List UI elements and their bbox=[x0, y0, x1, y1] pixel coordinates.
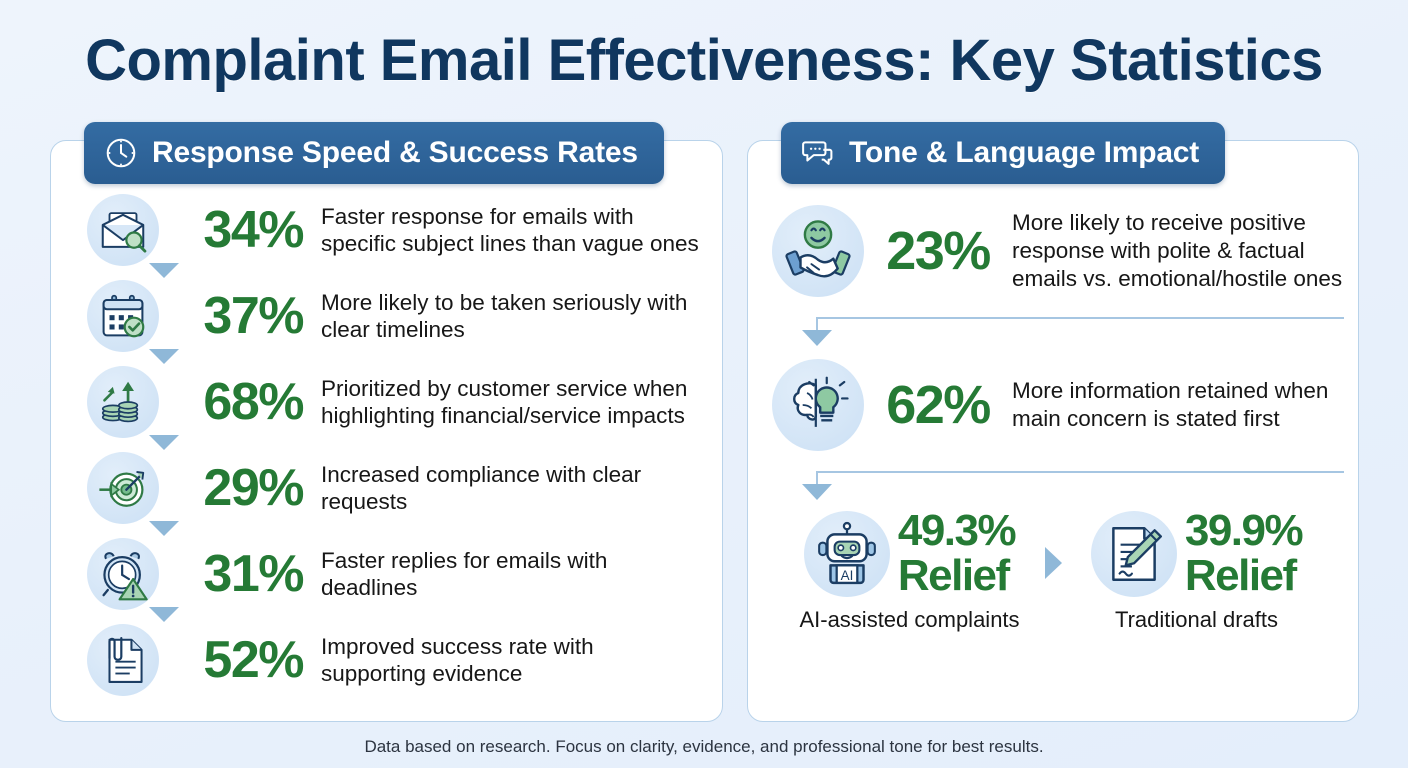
panel-left-body: 34% Faster response for emails with spec… bbox=[51, 141, 722, 693]
stat-percent: 23% bbox=[864, 224, 1012, 278]
page-title: Complaint Email Effectiveness: Key Stati… bbox=[0, 0, 1408, 90]
stat-description: More likely to receive positive response… bbox=[1012, 209, 1344, 292]
triangle-down-icon bbox=[149, 349, 179, 364]
flow-arrow-down bbox=[51, 435, 722, 455]
stat-percent: 68% bbox=[167, 376, 303, 428]
speech-bubbles-icon bbox=[801, 136, 835, 170]
stat-description: Increased compliance with clear requests bbox=[321, 461, 704, 516]
comparison-value: 49.3% bbox=[898, 506, 1015, 555]
panels-container: Response Speed & Success Rates bbox=[0, 140, 1408, 724]
stat-row: 62% More information retained when main … bbox=[748, 351, 1358, 459]
stat-row: 68% Prioritized by customer service when… bbox=[51, 369, 722, 435]
panel-tone-language: Tone & Language Impact bbox=[747, 140, 1359, 722]
flow-arrow-down bbox=[51, 521, 722, 541]
stat-row: 52% Improved success rate with supportin… bbox=[51, 627, 722, 693]
panel-right-title: Tone & Language Impact bbox=[849, 136, 1199, 170]
svg-text:AI: AI bbox=[841, 568, 854, 583]
comparison-unit: Relief bbox=[1185, 551, 1296, 600]
comparison-value: 39.9% bbox=[1185, 506, 1302, 555]
email-search-icon bbox=[87, 194, 159, 266]
panel-response-speed: Response Speed & Success Rates bbox=[50, 140, 723, 722]
clock-icon bbox=[104, 136, 138, 170]
stat-percent: 29% bbox=[167, 462, 303, 514]
stat-row: 37% More likely to be taken seriously wi… bbox=[51, 283, 722, 349]
comparison-item-ai: AI 49.3% Relief AI-assisted complaints bbox=[785, 509, 1035, 633]
panel-right-body: 23% More likely to receive positive resp… bbox=[748, 141, 1358, 633]
comparison-label: Traditional drafts bbox=[1072, 607, 1322, 633]
flow-arrow-down bbox=[51, 263, 722, 283]
stat-description: More likely to be taken seriously with c… bbox=[321, 289, 704, 344]
connector-line bbox=[816, 317, 1344, 319]
stat-description: Faster replies for emails with deadlines bbox=[321, 547, 704, 602]
stat-row: 34% Faster response for emails with spec… bbox=[51, 197, 722, 263]
calendar-check-icon bbox=[87, 280, 159, 352]
stat-description: More information retained when main conc… bbox=[1012, 377, 1344, 432]
stat-description: Improved success rate with supporting ev… bbox=[321, 633, 704, 688]
panel-left-header: Response Speed & Success Rates bbox=[84, 122, 664, 184]
stat-description: Faster response for emails with specific… bbox=[321, 203, 704, 258]
triangle-down-icon bbox=[802, 484, 832, 500]
stat-percent: 62% bbox=[864, 378, 1012, 432]
flow-connector bbox=[798, 459, 1344, 505]
triangle-right-icon bbox=[1045, 547, 1062, 579]
comparison-figure: 39.9% Relief bbox=[1185, 509, 1302, 599]
document-paperclip-icon bbox=[87, 624, 159, 696]
triangle-down-icon bbox=[149, 607, 179, 622]
triangle-down-icon bbox=[802, 330, 832, 346]
stat-percent: 52% bbox=[167, 634, 303, 686]
triangle-down-icon bbox=[149, 263, 179, 278]
triangle-down-icon bbox=[149, 521, 179, 536]
connector-line bbox=[816, 471, 1344, 473]
stat-percent: 31% bbox=[167, 548, 303, 600]
comparison-section: AI 49.3% Relief AI-assisted complaints bbox=[748, 505, 1358, 633]
connector-drop bbox=[816, 317, 818, 331]
flow-connector bbox=[798, 305, 1344, 351]
stat-row: 23% More likely to receive positive resp… bbox=[748, 197, 1358, 305]
comparison-item-top: AI 49.3% Relief bbox=[785, 509, 1035, 599]
stat-description: Prioritized by customer service when hig… bbox=[321, 375, 704, 430]
handshake-smiley-icon bbox=[772, 205, 864, 297]
document-pen-icon bbox=[1091, 511, 1177, 597]
comparison-item-top: 39.9% Relief bbox=[1072, 509, 1322, 599]
triangle-down-icon bbox=[149, 435, 179, 450]
robot-ai-icon: AI bbox=[804, 511, 890, 597]
footer-note: Data based on research. Focus on clarity… bbox=[0, 737, 1408, 757]
alarm-warning-icon bbox=[87, 538, 159, 610]
stat-row: 31% Faster replies for emails with deadl… bbox=[51, 541, 722, 607]
stat-percent: 34% bbox=[167, 204, 303, 256]
stat-percent: 37% bbox=[167, 290, 303, 342]
brain-bulb-icon bbox=[772, 359, 864, 451]
connector-drop bbox=[816, 471, 818, 485]
target-arrow-icon bbox=[87, 452, 159, 524]
flow-arrow-down bbox=[51, 607, 722, 627]
stat-row: 29% Increased compliance with clear requ… bbox=[51, 455, 722, 521]
comparison-unit: Relief bbox=[898, 551, 1009, 600]
flow-arrow-down bbox=[51, 349, 722, 369]
panel-left-title: Response Speed & Success Rates bbox=[152, 136, 638, 170]
comparison-item-traditional: 39.9% Relief Traditional drafts bbox=[1072, 509, 1322, 633]
coins-growth-icon bbox=[87, 366, 159, 438]
panel-right-header: Tone & Language Impact bbox=[781, 122, 1225, 184]
comparison-figure: 49.3% Relief bbox=[898, 509, 1015, 599]
comparison-label: AI-assisted complaints bbox=[785, 607, 1035, 633]
